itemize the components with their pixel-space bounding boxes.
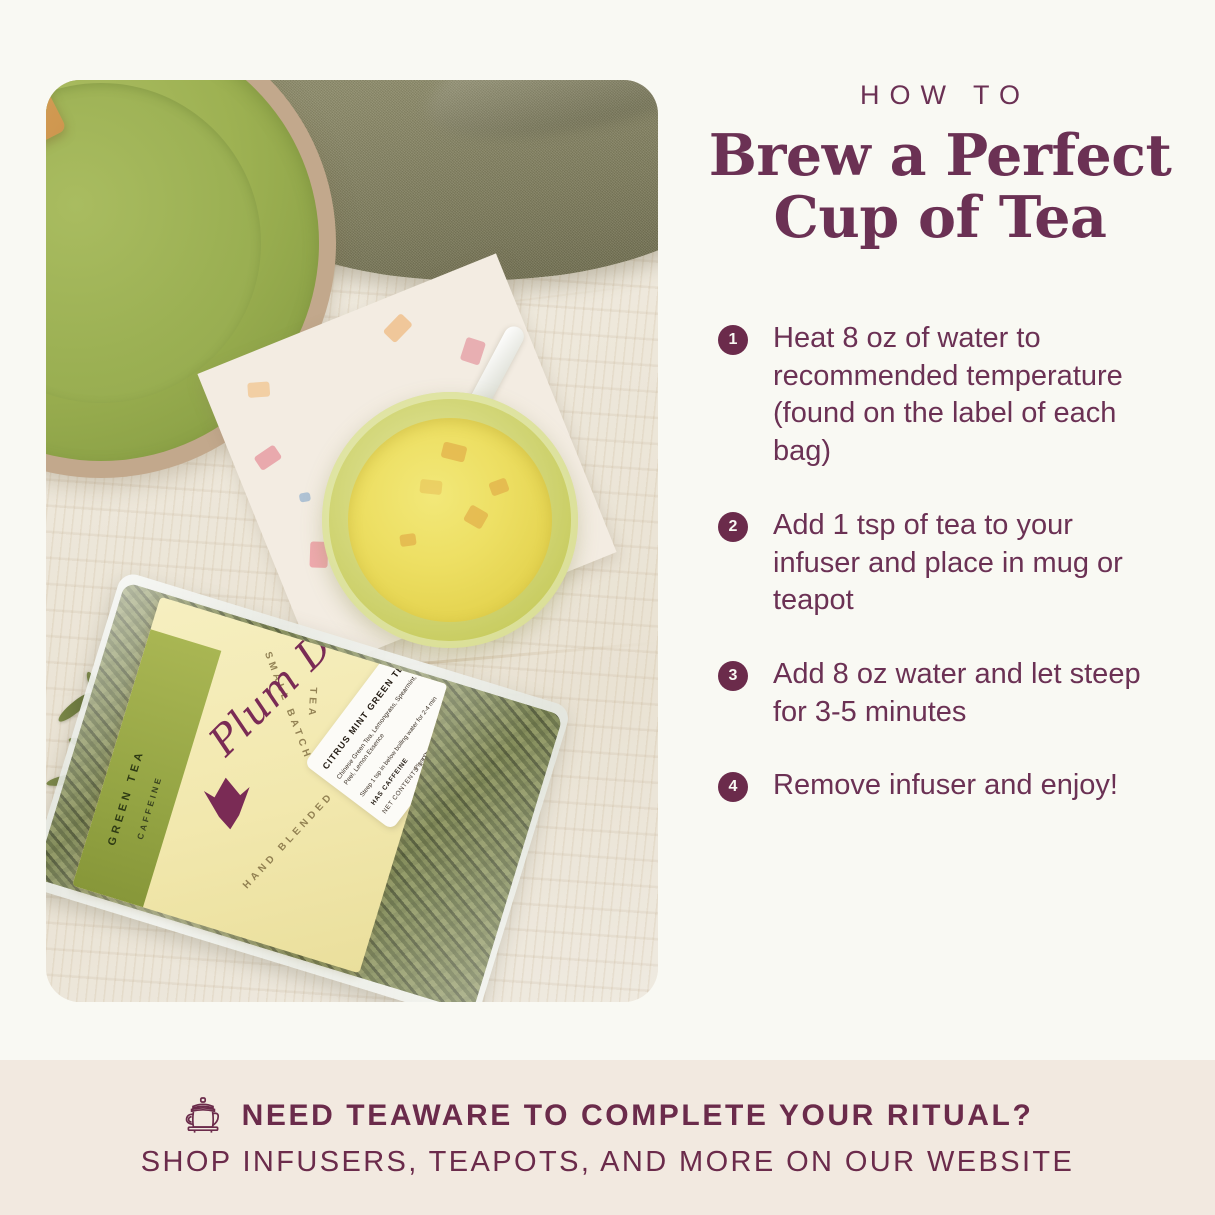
step-number-badge: 4: [718, 772, 748, 802]
step-number-badge: 3: [718, 661, 748, 691]
step-text: Remove infuser and enjoy!: [773, 767, 1118, 805]
footer-headline: NEED TEAWARE TO COMPLETE YOUR RITUAL?: [242, 1099, 1034, 1133]
orange-peel-piece: [488, 477, 510, 496]
step-number-badge: 2: [718, 512, 748, 542]
orange-peel-piece: [399, 533, 417, 547]
label-arc-tea: TEA: [306, 687, 319, 720]
terrazzo-chip: [253, 444, 282, 471]
terrazzo-chip: [383, 313, 413, 344]
list-item: 3 Add 8 oz water and let steep for 3-5 m…: [718, 656, 1180, 731]
steps-list: 1 Heat 8 oz of water to recommended temp…: [700, 320, 1180, 805]
list-item: 1 Heat 8 oz of water to recommended temp…: [718, 320, 1180, 471]
step-number-badge: 1: [718, 325, 748, 355]
plate-well: [46, 83, 261, 403]
terrazzo-chip: [460, 337, 486, 366]
list-item: 2 Add 1 tsp of tea to your infuser and p…: [718, 507, 1180, 620]
plum-deluxe-leaf-icon: [203, 776, 253, 832]
title-line-2: Cup of Tea: [700, 187, 1180, 249]
teapot-icon: [182, 1096, 224, 1136]
page-title: Brew a Perfect Cup of Tea: [700, 125, 1180, 248]
napkin-fold: [412, 80, 658, 172]
instructions-panel: HOW TO Brew a Perfect Cup of Tea 1 Heat …: [700, 80, 1180, 805]
hero-photo: GREEN TEA CAFFEINE SMALL BATCH TEA HAND …: [46, 80, 658, 1002]
footer-cta-banner: NEED TEAWARE TO COMPLETE YOUR RITUAL? SH…: [0, 1060, 1215, 1215]
orange-peel-piece: [440, 441, 467, 462]
step-text: Add 1 tsp of tea to your infuser and pla…: [773, 507, 1165, 620]
orange-peel-piece: [419, 479, 442, 495]
kicker-how-to: HOW TO: [700, 80, 1180, 111]
orange-peel-piece: [463, 504, 489, 530]
glass-tea-cup: [322, 392, 578, 648]
step-text: Heat 8 oz of water to recommended temper…: [773, 320, 1165, 471]
footer-top-row: NEED TEAWARE TO COMPLETE YOUR RITUAL?: [182, 1096, 1034, 1136]
terrazzo-chip: [247, 381, 270, 397]
title-line-1: Brew a Perfect: [700, 125, 1180, 187]
list-item: 4 Remove infuser and enjoy!: [718, 767, 1180, 805]
infographic-root: GREEN TEA CAFFEINE SMALL BATCH TEA HAND …: [0, 0, 1215, 1215]
terrazzo-chip: [299, 492, 311, 503]
brewed-tea-liquid: [348, 418, 552, 622]
step-text: Add 8 oz water and let steep for 3-5 min…: [773, 656, 1165, 731]
footer-subline: SHOP INFUSERS, TEAPOTS, AND MORE ON OUR …: [141, 1146, 1075, 1179]
